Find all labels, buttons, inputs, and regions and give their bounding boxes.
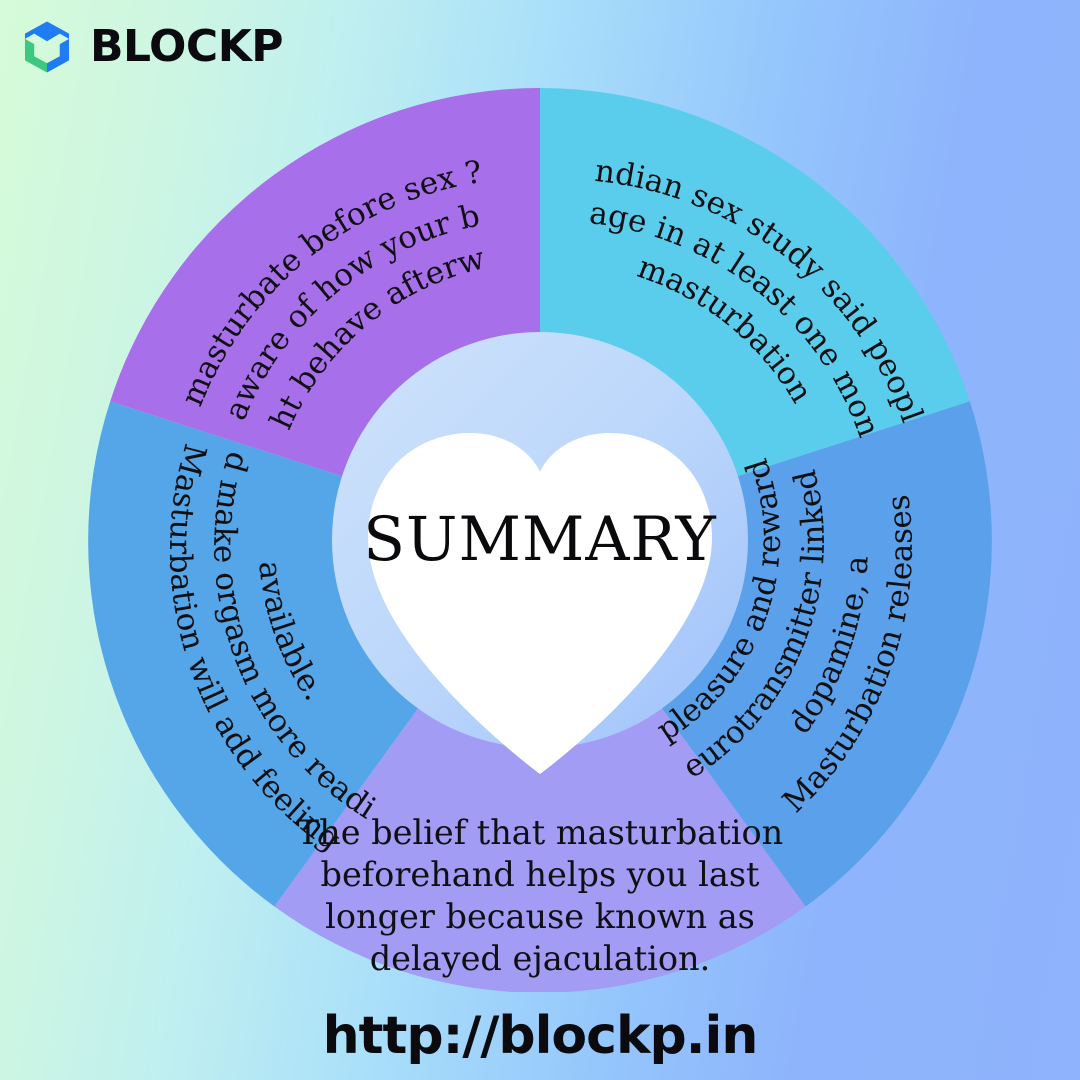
donut-chart: SUMMARY Indian sex study said people eng… (88, 88, 992, 992)
segment-ejaculation-line-1: The belief that masturbation (297, 813, 783, 852)
site-url[interactable]: http://blockp.in (0, 1006, 1080, 1066)
segment-ejaculation-line-2: beforehand helps you last (321, 855, 760, 894)
infographic-canvas: BLOCKP (0, 0, 1080, 1080)
summary-label: SUMMARY (363, 504, 717, 575)
brand-name: BLOCKP (90, 25, 283, 69)
hexagon-block-logo-icon (18, 18, 76, 76)
segment-ejaculation-line-4: delayed ejaculation. (370, 939, 711, 978)
segment-ejaculation-line-3: longer because known as (325, 897, 755, 936)
brand-logo: BLOCKP (18, 18, 283, 76)
